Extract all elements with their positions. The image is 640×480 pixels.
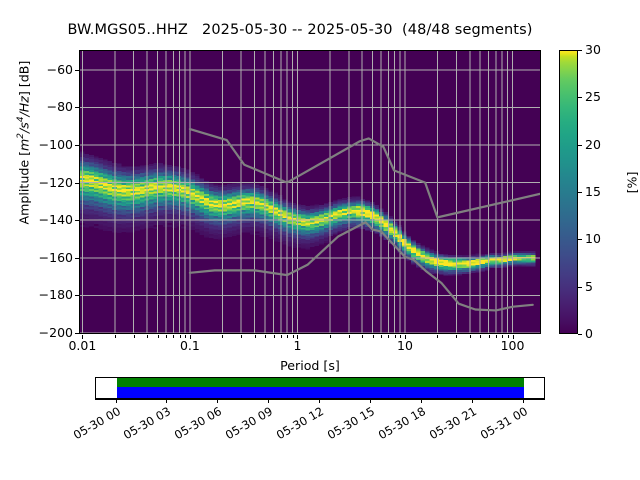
- x-tick-mark: [388, 335, 389, 338]
- y-tick-mark: [75, 145, 79, 146]
- timeline-tick-mark: [268, 399, 269, 403]
- y-tick-mark: [75, 333, 79, 334]
- x-axis-label: Period [s]: [79, 358, 541, 373]
- x-tick-mark: [489, 335, 490, 338]
- colorbar-tick-label: 5: [585, 281, 593, 293]
- timeline-tick-mark: [116, 399, 117, 403]
- x-tick-mark: [470, 335, 471, 338]
- x-tick-label: 0.01: [52, 338, 112, 353]
- timeline-tick-label: 05-30 03: [118, 404, 173, 444]
- colorbar-tick-mark: [578, 192, 582, 193]
- ppsd-plot-area: [79, 50, 541, 334]
- colorbar-tick-mark: [578, 97, 582, 98]
- timeline-axis-line: [95, 399, 545, 400]
- x-tick-mark: [222, 335, 223, 338]
- x-tick-mark: [405, 335, 406, 339]
- timeline-tick-label: 05-30 21: [423, 404, 478, 444]
- x-tick-mark: [166, 335, 167, 338]
- y-tick-mark: [75, 107, 79, 108]
- x-tick-mark: [241, 335, 242, 338]
- colorbar-tick-mark: [578, 145, 582, 146]
- x-tick-mark: [297, 335, 298, 339]
- timeline-tick-label: 05-30 15: [322, 404, 377, 444]
- timeline-coverage-bar[interactable]: [95, 377, 545, 399]
- y-tick-label: −180: [25, 289, 73, 301]
- x-tick-mark: [134, 335, 135, 338]
- x-tick-mark: [480, 335, 481, 338]
- y-tick-mark: [75, 70, 79, 71]
- x-tick-mark: [173, 335, 174, 338]
- x-tick-mark: [82, 335, 83, 339]
- x-tick-mark: [147, 335, 148, 338]
- y-tick-mark: [75, 183, 79, 184]
- x-tick-mark: [395, 335, 396, 338]
- colorbar-tick-label: 20: [585, 139, 601, 151]
- timeline-tick-mark: [319, 399, 320, 403]
- colorbar-tick-label: 25: [585, 91, 601, 103]
- x-tick-mark: [373, 335, 374, 338]
- x-tick-mark: [362, 335, 363, 338]
- y-tick-mark: [75, 220, 79, 221]
- timeline-tick-label: 05-30 00: [67, 404, 122, 444]
- timeline-tick-label: 05-30 12: [271, 404, 326, 444]
- x-tick-mark: [508, 335, 509, 338]
- x-tick-label: 10: [375, 338, 435, 353]
- timeline-tick-mark: [472, 399, 473, 403]
- x-tick-label: 0.1: [160, 338, 220, 353]
- y-tick-label: −140: [25, 214, 73, 226]
- timeline-tick-mark: [523, 399, 524, 403]
- x-tick-mark: [513, 335, 514, 339]
- y-tick-label: −60: [25, 64, 73, 76]
- x-tick-label: 100: [483, 338, 543, 353]
- timeline-tick-mark: [370, 399, 371, 403]
- x-tick-mark: [158, 335, 159, 338]
- colorbar-tick-label: 10: [585, 233, 601, 245]
- x-tick-mark: [349, 335, 350, 338]
- colorbar-tick-mark: [578, 50, 582, 51]
- x-tick-mark: [287, 335, 288, 338]
- x-tick-mark: [437, 335, 438, 338]
- ppsd-figure: BW.MGS05..HHZ 2025-05-30 -- 2025-05-30 (…: [0, 0, 640, 480]
- timeline-tick-label: 05-30 06: [169, 404, 224, 444]
- timeline-tick-label: 05-30 09: [220, 404, 275, 444]
- timeline-tick-mark: [421, 399, 422, 403]
- timeline-tick-label: 05-30 18: [372, 404, 427, 444]
- x-tick-mark: [190, 335, 191, 339]
- x-tick-mark: [330, 335, 331, 338]
- colorbar-tick-mark: [578, 287, 582, 288]
- y-tick-label: −100: [25, 139, 73, 151]
- colorbar-tick-mark: [578, 239, 582, 240]
- y-tick-label: −120: [25, 177, 73, 189]
- page-title: BW.MGS05..HHZ 2025-05-30 -- 2025-05-30 (…: [0, 22, 600, 38]
- colorbar-tick-label: 0: [585, 328, 593, 340]
- timeline-tick-label: 05-31 00: [474, 404, 529, 444]
- ppsd-canvas: [80, 51, 540, 333]
- x-tick-mark: [185, 335, 186, 338]
- colorbar-label: [%]: [625, 153, 640, 213]
- y-tick-label: −160: [25, 252, 73, 264]
- timeline-tick-mark: [217, 399, 218, 403]
- x-tick-label: 1: [267, 338, 327, 353]
- x-tick-mark: [400, 335, 401, 338]
- data-coverage-blue: [117, 387, 524, 398]
- y-tick-mark: [75, 258, 79, 259]
- x-tick-mark: [274, 335, 275, 338]
- x-tick-mark: [265, 335, 266, 338]
- x-tick-mark: [281, 335, 282, 338]
- colorbar: [559, 50, 578, 334]
- colorbar-tick-label: 15: [585, 186, 601, 198]
- x-tick-mark: [255, 335, 256, 338]
- x-tick-mark: [293, 335, 294, 338]
- y-tick-mark: [75, 295, 79, 296]
- x-tick-mark: [180, 335, 181, 338]
- colorbar-tick-label: 30: [585, 44, 601, 56]
- y-tick-label: −80: [25, 101, 73, 113]
- x-tick-mark: [502, 335, 503, 338]
- y-axis-label: Amplitude [m2/s4/Hz] [dB]: [16, 0, 31, 293]
- x-tick-mark: [456, 335, 457, 338]
- x-tick-mark: [115, 335, 116, 338]
- colorbar-tick-mark: [578, 334, 582, 335]
- data-coverage-green: [117, 378, 524, 387]
- x-tick-mark: [496, 335, 497, 338]
- x-tick-mark: [381, 335, 382, 338]
- timeline-tick-mark: [166, 399, 167, 403]
